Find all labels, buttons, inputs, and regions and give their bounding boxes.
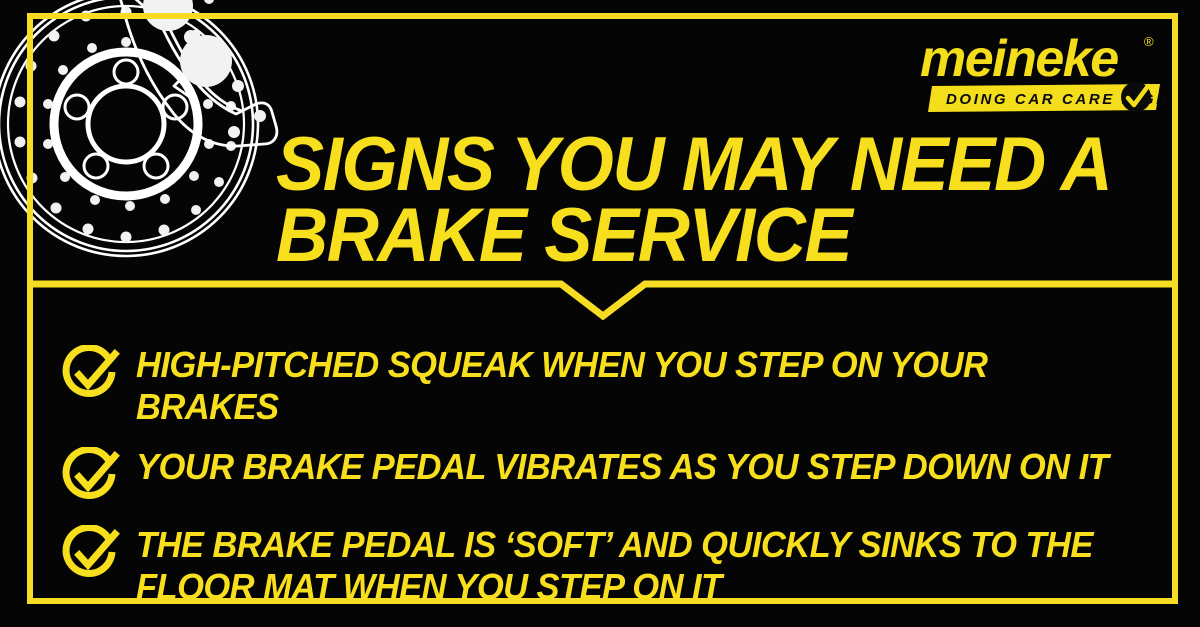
- list-item-label: HIGH-PITCHED SQUEAK WHEN YOU STEP ON YOU…: [136, 340, 1121, 428]
- meineke-wordmark: meineke: [920, 30, 1118, 88]
- frame-border-top: [27, 13, 1178, 19]
- check-circle-icon: [62, 447, 120, 505]
- list-item-label: THE BRAKE PEDAL IS ‘SOFT’ AND QUICKLY SI…: [136, 520, 1093, 608]
- check-circle-icon: [1121, 82, 1151, 112]
- page-title: SIGNS YOU MAY NEED A BRAKE SERVICE: [276, 129, 1112, 271]
- check-circle-icon: [62, 345, 120, 403]
- brake-rotor-and-caliper-illustration: [0, 0, 298, 284]
- check-circle-icon: [62, 525, 120, 583]
- symptoms-checklist: HIGH-PITCHED SQUEAK WHEN YOU STEP ON YOU…: [62, 340, 1162, 620]
- list-item: YOUR BRAKE PEDAL VIBRATES AS YOU STEP DO…: [62, 442, 1162, 508]
- meineke-logo: meineke ® DOING CAR CARE RIGHT: [920, 24, 1165, 116]
- list-item: THE BRAKE PEDAL IS ‘SOFT’ AND QUICKLY SI…: [62, 520, 1162, 608]
- list-item-label: YOUR BRAKE PEDAL VIBRATES AS YOU STEP DO…: [136, 442, 1108, 488]
- list-item: HIGH-PITCHED SQUEAK WHEN YOU STEP ON YOU…: [62, 340, 1162, 428]
- frame-border-left: [27, 13, 33, 604]
- registered-trademark-icon: ®: [1144, 34, 1154, 49]
- frame-border-right: [1172, 13, 1178, 604]
- brake-service-infographic-poster: SIGNS YOU MAY NEED A BRAKE SERVICE meine…: [0, 0, 1200, 627]
- section-divider-with-chevron-notch: [27, 280, 1178, 320]
